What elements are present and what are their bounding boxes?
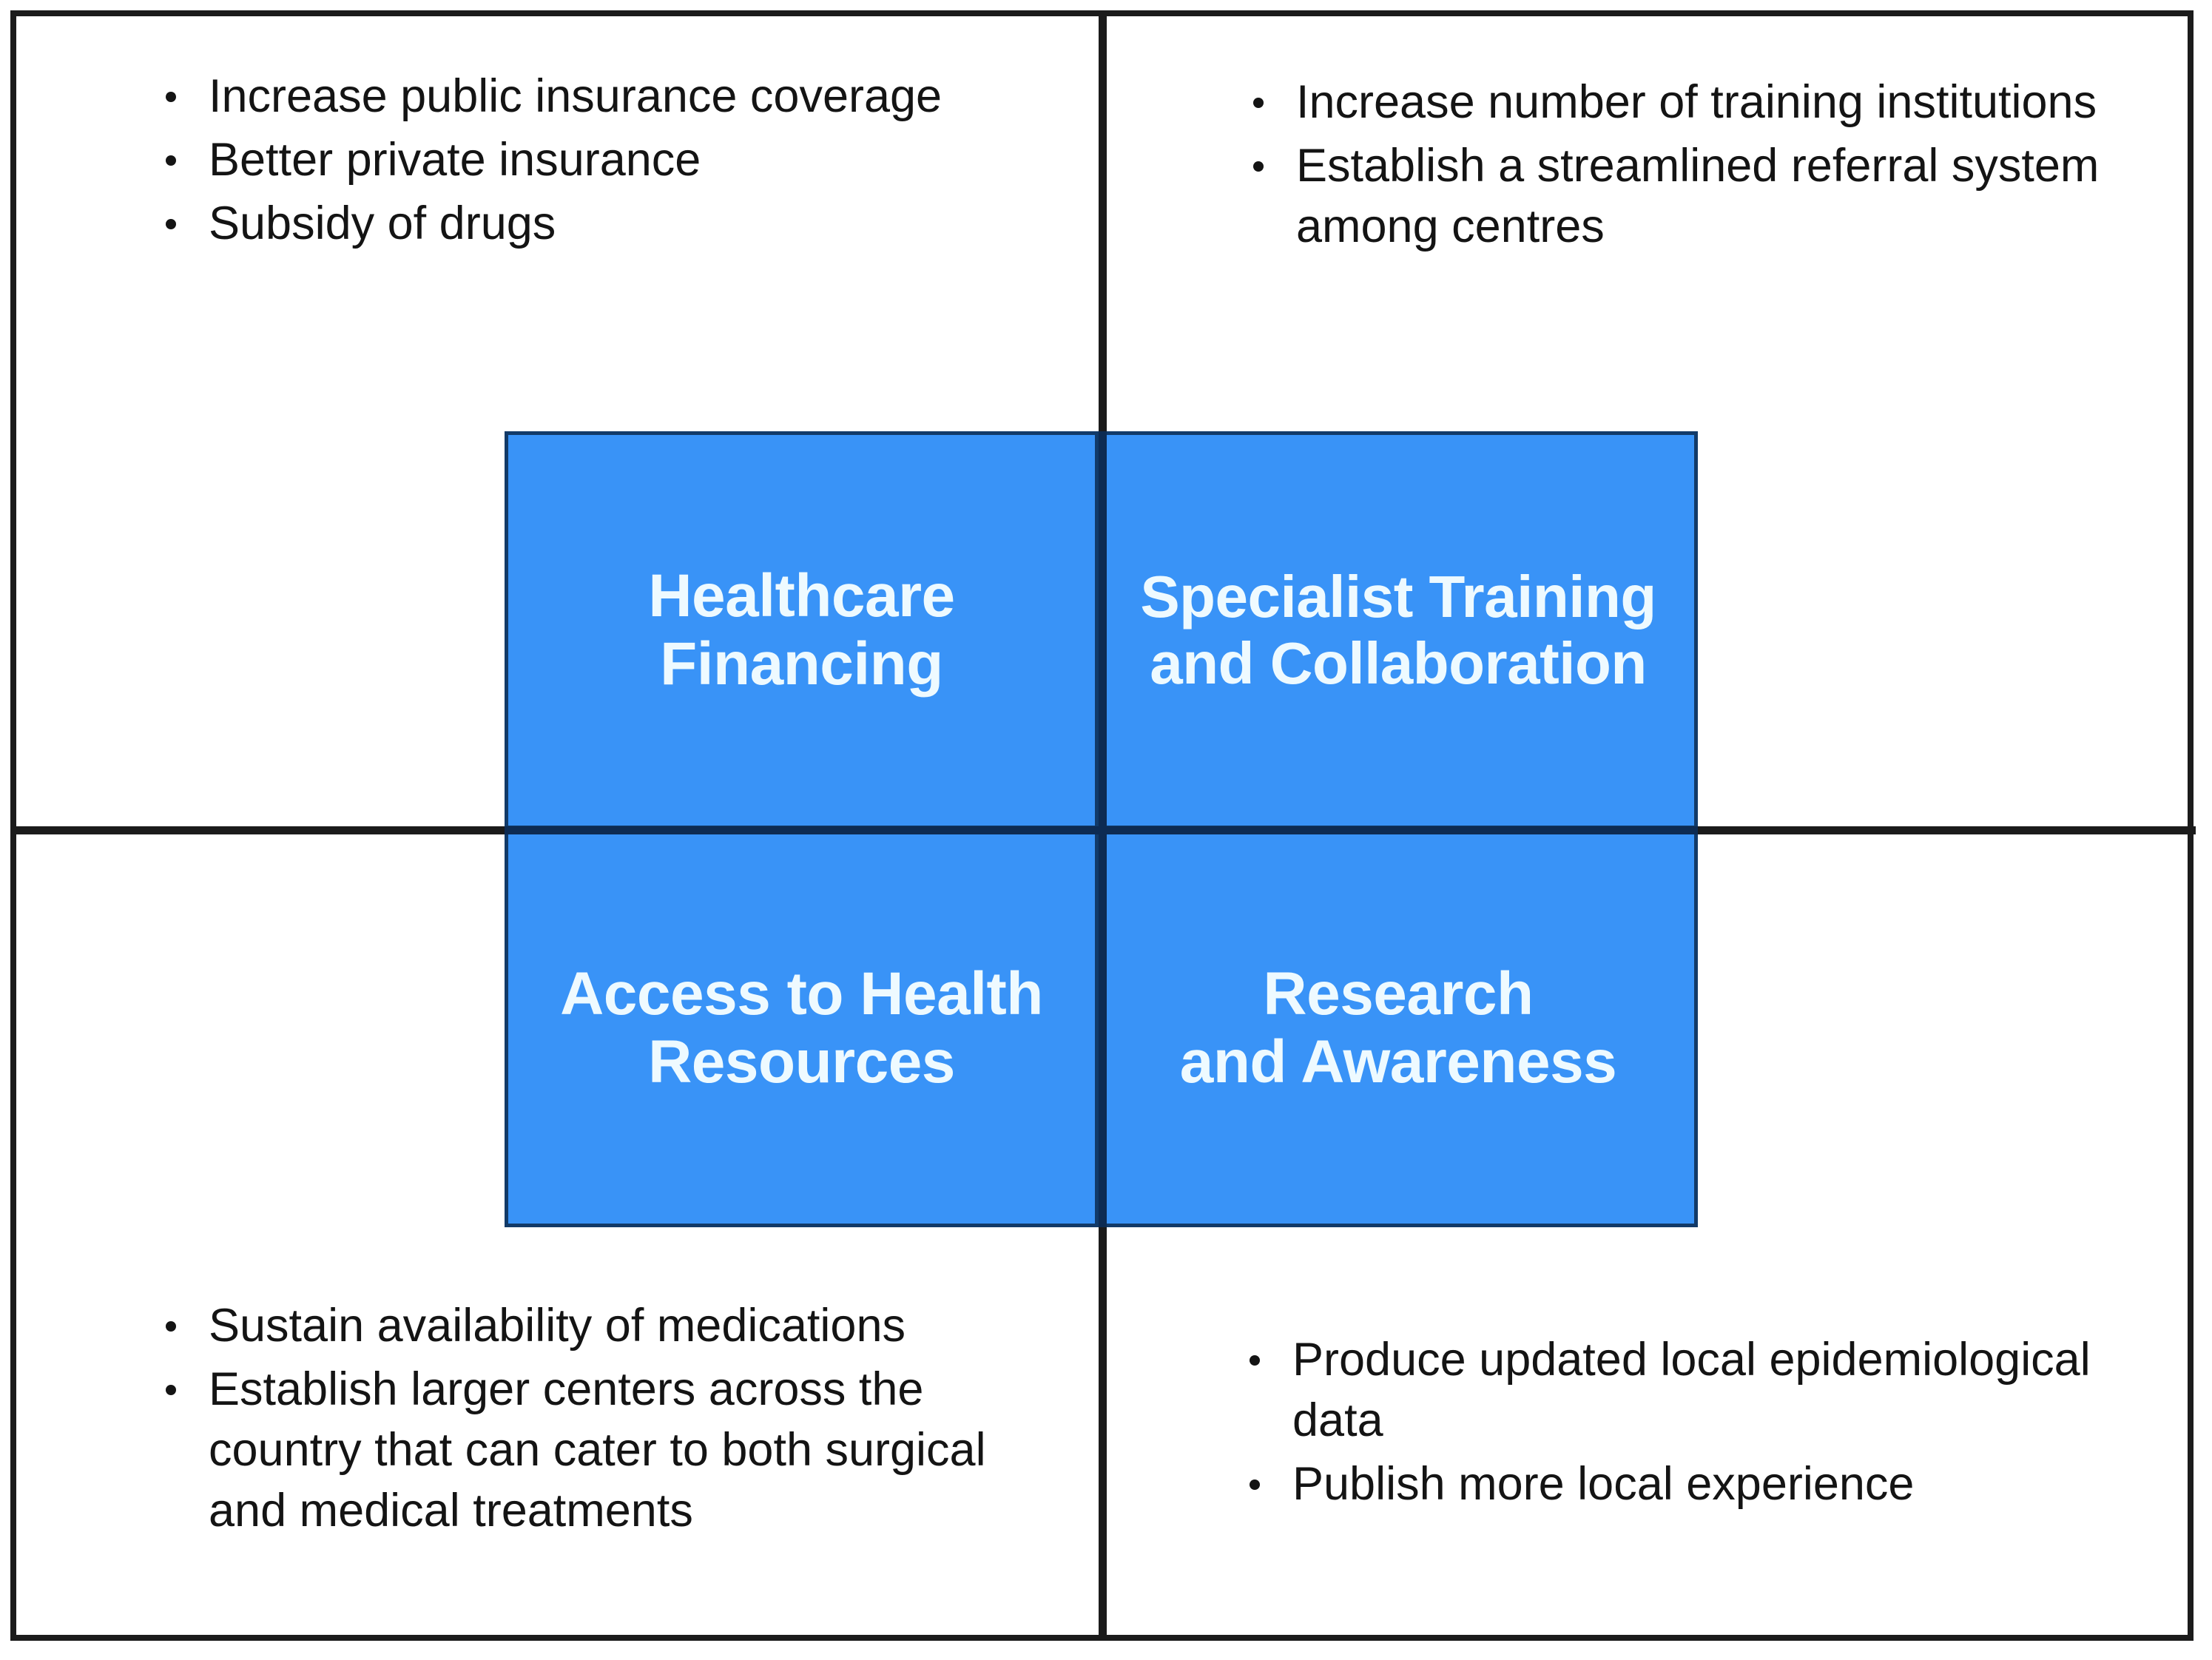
bullet-dot-icon <box>166 1321 176 1332</box>
bullet-list-specialist-training: Increase number of training institutions… <box>1243 72 2116 260</box>
list-item-text: Subsidy of drugs <box>209 198 556 249</box>
quadrant-box-label: Healthcare Financing <box>648 562 954 698</box>
bullet-dot-icon <box>166 155 176 166</box>
list-item: Produce updated local epidemiological da… <box>1239 1330 2149 1451</box>
bullet-dot-icon <box>1253 161 1264 172</box>
list-item-text: Establish larger centers across the coun… <box>209 1363 986 1536</box>
diagram-canvas: Increase public insurance coverage Bette… <box>0 0 2212 1660</box>
list-item: Increase public insurance coverage <box>155 67 1014 127</box>
list-item: Establish a streamlined referral system … <box>1243 136 2116 257</box>
bullet-list-research-and-awareness: Produce updated local epidemiological da… <box>1239 1330 2149 1518</box>
bullet-dot-icon <box>1250 1355 1260 1366</box>
list-item: Better private insurance <box>155 130 1014 191</box>
quadrant-box-label: Research and Awareness <box>1180 960 1617 1096</box>
list-item: Increase number of training institutions <box>1243 72 2116 133</box>
list-item-text: Establish a streamlined referral system … <box>1296 140 2099 252</box>
quadrant-box-healthcare-financing[interactable]: Healthcare Financing <box>505 431 1099 829</box>
bullet-list-access-to-health-resources: Sustain availability of medications Esta… <box>155 1296 1065 1545</box>
horizontal-divider-over-boxes <box>505 826 1698 834</box>
list-item-text: Produce updated local epidemiological da… <box>1292 1334 2091 1446</box>
list-item-text: Increase number of training institutions <box>1296 76 2097 128</box>
list-item-text: Increase public insurance coverage <box>209 70 942 122</box>
list-item: Publish more local experience <box>1239 1454 2149 1515</box>
list-item: Establish larger centers across the coun… <box>155 1360 1065 1542</box>
bullet-dot-icon <box>1253 98 1264 108</box>
quadrant-box-label: Access to Health Resources <box>560 960 1043 1096</box>
bullet-list: Sustain availability of medications Esta… <box>155 1296 1065 1542</box>
bullet-list: Increase public insurance coverage Bette… <box>155 67 1014 254</box>
list-item: Sustain availability of medications <box>155 1296 1065 1357</box>
bullet-list: Increase number of training institutions… <box>1243 72 2116 257</box>
list-item: Subsidy of drugs <box>155 194 1014 254</box>
quadrant-box-research-and-awareness[interactable]: Research and Awareness <box>1099 829 1698 1227</box>
quadrant-box-specialist-training-and-collaboration[interactable]: Specialist Training and Collaboration <box>1099 431 1698 829</box>
bullet-dot-icon <box>166 92 176 102</box>
bullet-dot-icon <box>166 1385 176 1395</box>
quadrant-box-access-to-health-resources[interactable]: Access to Health Resources <box>505 829 1099 1227</box>
list-item-text: Publish more local experience <box>1292 1458 1914 1510</box>
bullet-dot-icon <box>166 219 176 229</box>
bullet-list: Produce updated local epidemiological da… <box>1239 1330 2149 1515</box>
bullet-dot-icon <box>1250 1480 1260 1490</box>
quadrant-box-label: Specialist Training and Collaboration <box>1140 564 1656 696</box>
list-item-text: Sustain availability of medications <box>209 1300 906 1352</box>
bullet-list-healthcare-financing: Increase public insurance coverage Bette… <box>155 67 1014 257</box>
list-item-text: Better private insurance <box>209 134 701 186</box>
